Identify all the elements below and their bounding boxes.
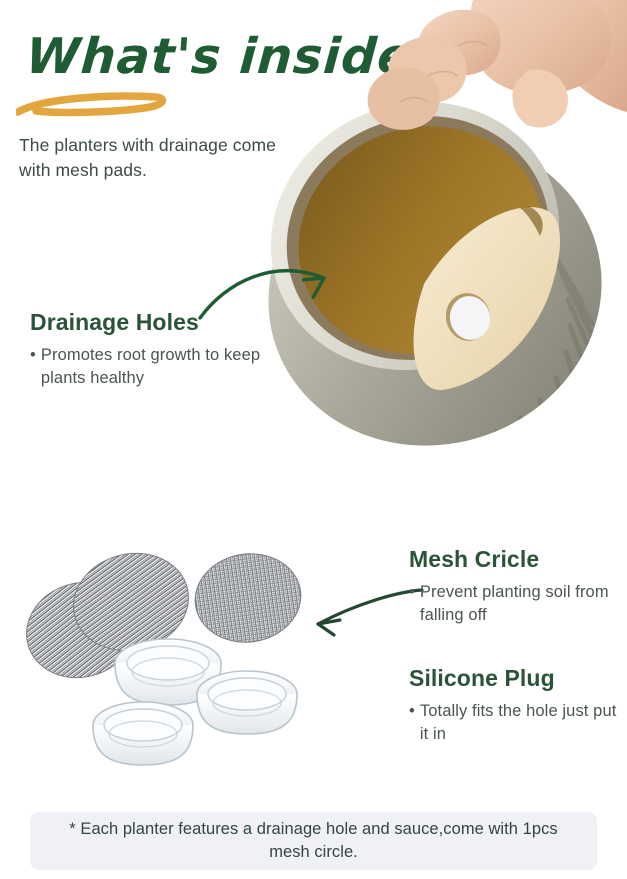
feature-title: Silicone Plug bbox=[409, 665, 621, 692]
feature-body: • Prevent planting soil from falling off bbox=[409, 581, 619, 627]
feature-title: Mesh Cricle bbox=[409, 546, 619, 573]
feature-body-text: Prevent planting soil from falling off bbox=[420, 581, 619, 627]
footer-note-text: * Each planter features a drainage hole … bbox=[30, 818, 597, 864]
feature-body-text: Promotes root growth to keep plants heal… bbox=[41, 344, 290, 390]
bullet-icon: • bbox=[409, 581, 415, 604]
feature-title: Drainage Holes bbox=[30, 309, 290, 336]
underline-swoosh-icon bbox=[16, 92, 176, 118]
feature-body-text: Totally fits the hole just put it in bbox=[420, 700, 621, 746]
parts-photo bbox=[18, 533, 328, 778]
infographic-page: What's inside? The planters with drainag… bbox=[0, 0, 627, 879]
footer-note-panel: * Each planter features a drainage hole … bbox=[30, 812, 597, 870]
planter-photo bbox=[228, 0, 627, 492]
feature-mesh-circle: Mesh Cricle • Prevent planting soil from… bbox=[409, 546, 619, 627]
feature-drainage-holes: Drainage Holes • Promotes root growth to… bbox=[30, 309, 290, 390]
bullet-icon: • bbox=[30, 344, 36, 367]
feature-silicone-plug: Silicone Plug • Totally fits the hole ju… bbox=[409, 665, 621, 746]
feature-body: • Promotes root growth to keep plants he… bbox=[30, 344, 290, 390]
feature-body: • Totally fits the hole just put it in bbox=[409, 700, 621, 746]
bullet-icon: • bbox=[409, 700, 415, 723]
